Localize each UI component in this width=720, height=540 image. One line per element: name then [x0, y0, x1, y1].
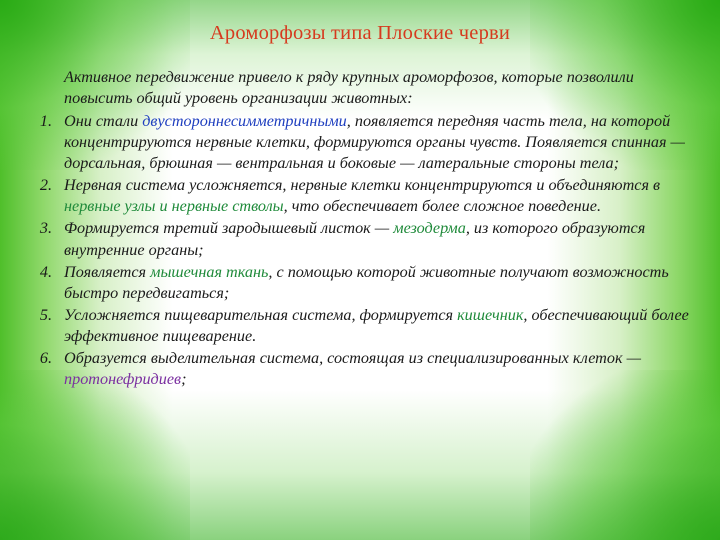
- highlighted-term: кишечник: [457, 306, 523, 324]
- background-corner-bottom-left: [0, 370, 190, 540]
- highlighted-term: мезодерма: [393, 219, 466, 237]
- text-run: Образуется выделительная система, состоя…: [64, 349, 641, 367]
- list-item-marker: 1.: [18, 111, 52, 132]
- highlighted-term: нервные узлы и нервные стволы: [64, 197, 284, 215]
- highlighted-term: протонефридиев: [64, 370, 181, 388]
- highlighted-term: двусторонне: [142, 112, 231, 130]
- list-item-text: Формируется третий зародышевый листок — …: [64, 219, 645, 258]
- background-corner-bottom-right: [530, 370, 720, 540]
- text-run: ;: [181, 370, 186, 388]
- text-run: , что обеспечивает более сложное поведен…: [284, 197, 601, 215]
- list-item: 3.Формируется третий зародышевый листок …: [18, 218, 696, 260]
- list-item-marker: 4.: [18, 262, 52, 283]
- list-item: 4.Появляется мышечная ткань, с помощью к…: [18, 262, 696, 304]
- list-item-text: Нервная система усложняется, нервные кле…: [64, 176, 660, 215]
- page-title: Ароморфозы типа Плоские черви: [0, 0, 720, 45]
- list-item-marker: 3.: [18, 218, 52, 239]
- list-item-marker: 5.: [18, 305, 52, 326]
- text-run: Нервная система усложняется, нервные кле…: [64, 176, 660, 194]
- list-item: 6.Образуется выделительная система, сост…: [18, 348, 696, 390]
- text-run: Появляется: [64, 263, 150, 281]
- list-item-text: Усложняется пищеварительная система, фор…: [64, 306, 689, 345]
- text-run: Они стали: [64, 112, 142, 130]
- list-item-text: Появляется мышечная ткань, с помощью кот…: [64, 263, 669, 302]
- ароморфозы-list: 1.Они стали двустороннесимметричными, по…: [18, 111, 696, 390]
- list-item: 5.Усложняется пищеварительная система, ф…: [18, 305, 696, 347]
- list-item-marker: 6.: [18, 348, 52, 369]
- text-run: Усложняется пищеварительная система, фор…: [64, 306, 457, 324]
- list-item-text: Образуется выделительная система, состоя…: [64, 349, 641, 388]
- slide-canvas: Ароморфозы типа Плоские черви Активное п…: [0, 0, 720, 540]
- list-item: 2.Нервная система усложняется, нервные к…: [18, 175, 696, 217]
- highlighted-term: симметричными: [231, 112, 347, 130]
- slide-content: Ароморфозы типа Плоские черви Активное п…: [0, 0, 720, 390]
- highlighted-term: мышечная ткань: [150, 263, 268, 281]
- text-run: Формируется третий зародышевый листок —: [64, 219, 393, 237]
- slide-body: Активное передвижение привело к ряду кру…: [0, 67, 720, 390]
- list-item-text: Они стали двустороннесимметричными, появ…: [64, 112, 685, 172]
- intro-paragraph: Активное передвижение привело к ряду кру…: [18, 67, 696, 109]
- list-item-marker: 2.: [18, 175, 52, 196]
- list-item: 1.Они стали двустороннесимметричными, по…: [18, 111, 696, 174]
